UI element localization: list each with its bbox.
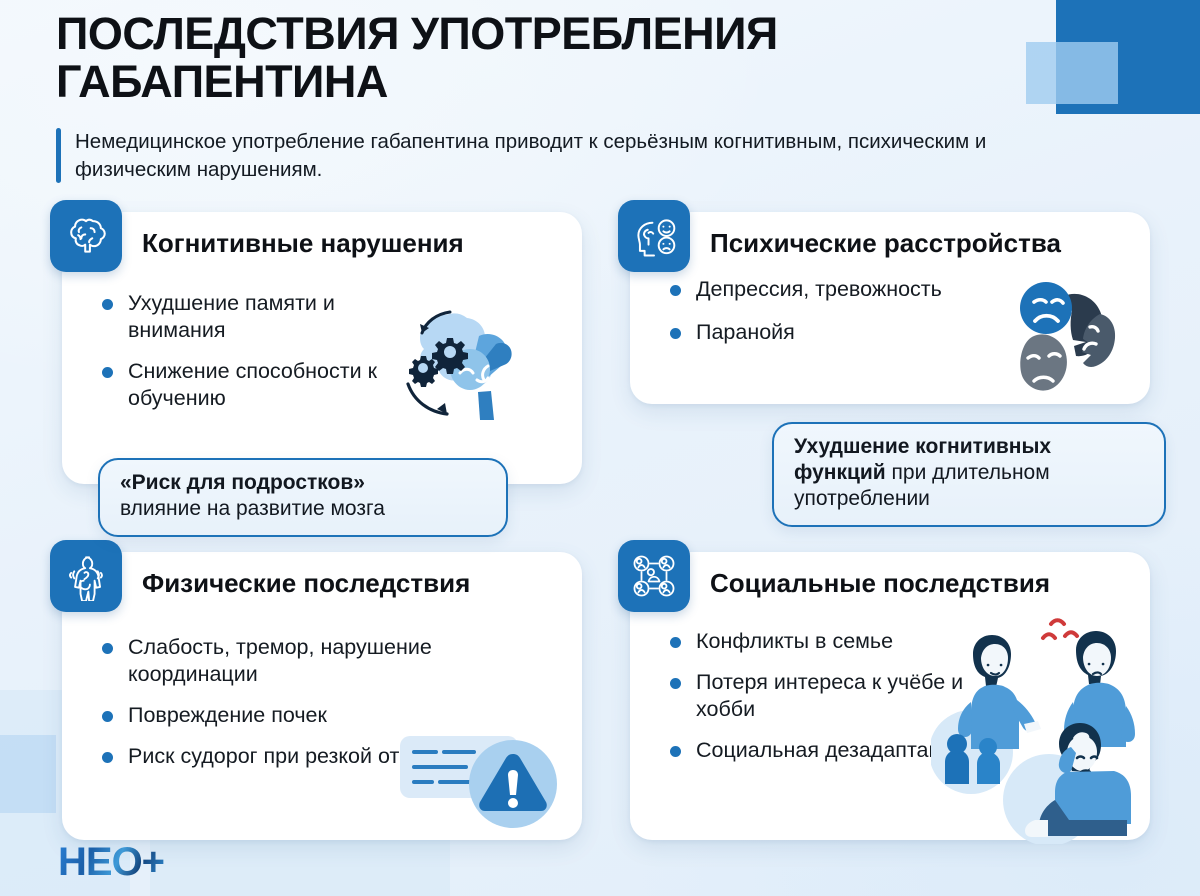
card-title-physical: Физические последствия [142, 568, 564, 599]
subtitle-block: Немедицинское употребление габапентина п… [56, 128, 1056, 183]
head-emotions-icon-badge [618, 200, 690, 272]
family-conflict-illustration [931, 614, 1146, 844]
card-title-mental: Психические расстройства [710, 228, 1132, 259]
page-subtitle: Немедицинское употребление габапентина п… [75, 128, 1015, 183]
card-physical: Физические последствия Слабость, тремор,… [62, 552, 582, 840]
bullet-list-cognitive: Ухудшение памяти и внимания Снижение спо… [100, 290, 430, 412]
people-network-icon-badge [618, 540, 690, 612]
list-item: Снижение способности к обучению [100, 358, 430, 412]
card-mental: Психические расстройства Депрессия, трев… [630, 212, 1150, 404]
callout-teen-risk: «Риск для подростков» влияние на развити… [98, 458, 508, 537]
page-title: ПОСЛЕДСТВИЯ УПОТРЕБЛЕНИЯ ГАБАПЕНТИНА [56, 10, 816, 106]
header: ПОСЛЕДСТВИЯ УПОТРЕБЛЕНИЯ ГАБАПЕНТИНА Нем… [56, 10, 1056, 183]
body-organs-icon-badge [50, 540, 122, 612]
decor-square-bottom-left [0, 735, 56, 813]
brand-logo: НЕО+ [58, 842, 164, 882]
bullet-list-mental: Депрессия, тревожность Паранойя [668, 276, 942, 362]
card-cognitive: Когнитивные нарушения Ухудшение памяти и… [62, 212, 582, 484]
list-item: Социальная дезадаптация [668, 737, 968, 764]
card-title-social: Социальные последствия [710, 568, 1132, 599]
sad-masks-illustration [1004, 274, 1144, 404]
callout-long-term: Ухудшение когнитивных функций при длител… [772, 422, 1166, 527]
bullet-list-social: Конфликты в семье Потеря интереса к учёб… [668, 628, 968, 764]
brain-icon [61, 211, 111, 261]
brain-icon-badge [50, 200, 122, 272]
people-network-icon [629, 551, 679, 601]
warning-document-illustration [398, 722, 568, 832]
brain-gears-illustration [384, 274, 574, 444]
callout-teen-risk-text: влияние на развитие мозга [120, 497, 385, 520]
callout-teen-risk-bold: «Риск для подростков» [120, 471, 365, 494]
subtitle-accent-bar [56, 128, 61, 183]
list-item: Депрессия, тревожность [668, 276, 942, 303]
head-emotions-icon [629, 211, 679, 261]
card-title-cognitive: Когнитивные нарушения [142, 228, 564, 259]
list-item: Ухудшение памяти и внимания [100, 290, 430, 344]
infographic-poster: ПОСЛЕДСТВИЯ УПОТРЕБЛЕНИЯ ГАБАПЕНТИНА Нем… [0, 0, 1200, 896]
list-item: Конфликты в семье [668, 628, 968, 655]
list-item: Потеря интереса к учёбе и хобби [668, 669, 968, 723]
card-social: Социальные последствия Конфликты в семье… [630, 552, 1150, 840]
list-item: Паранойя [668, 319, 942, 346]
body-organs-icon [61, 551, 111, 601]
list-item: Слабость, тремор, нарушение координации [100, 634, 470, 688]
